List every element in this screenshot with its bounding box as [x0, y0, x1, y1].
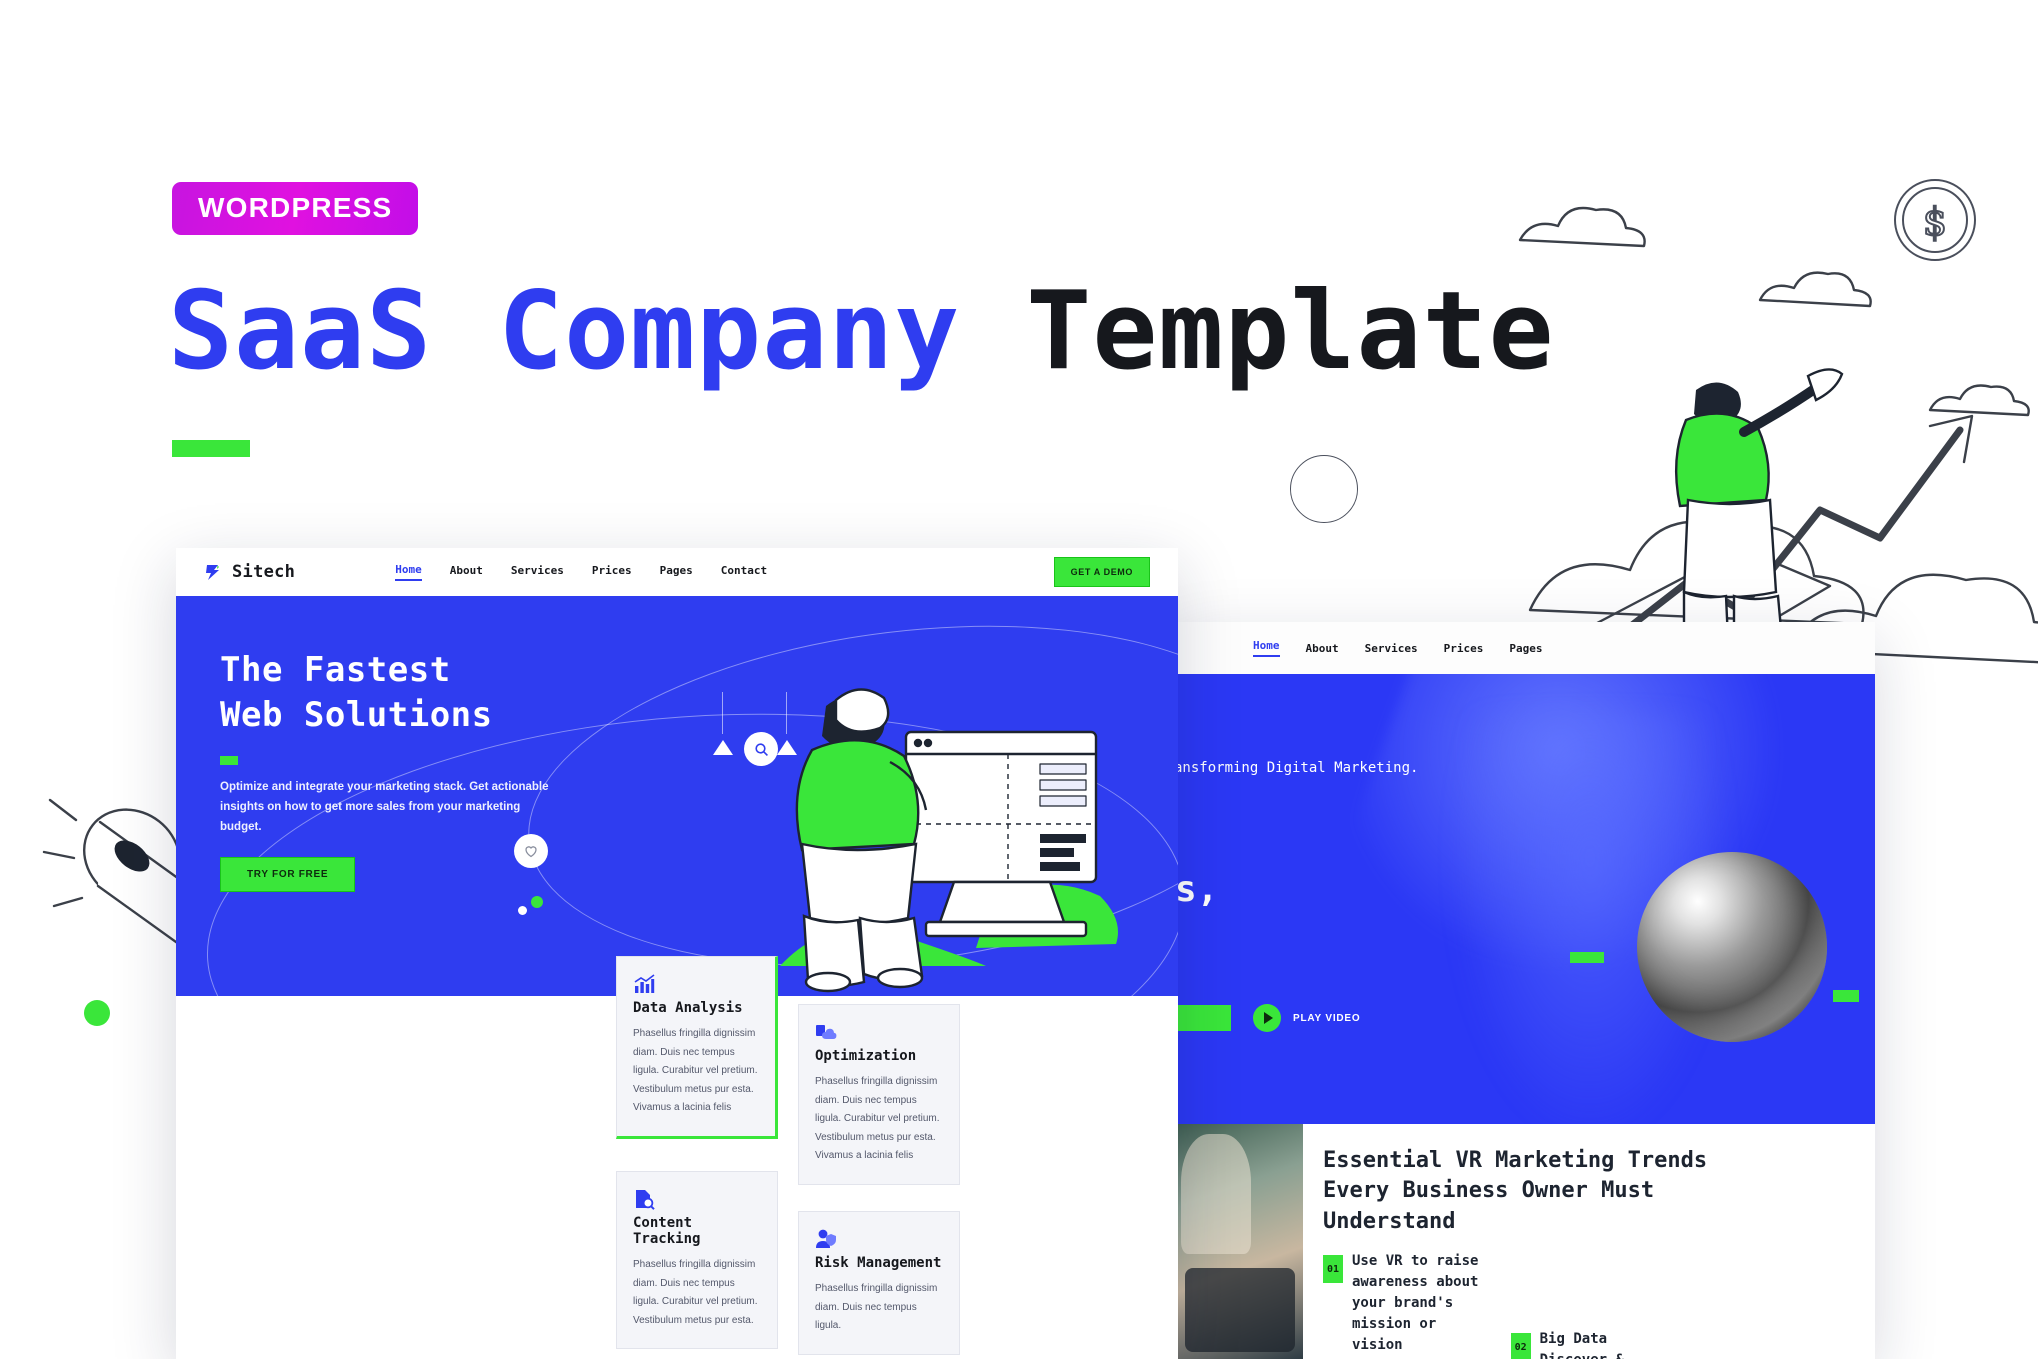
nav-item-about[interactable]: About	[450, 564, 483, 580]
decorative-circle-outline	[1290, 455, 1358, 523]
hanger-line-a	[722, 692, 723, 734]
hero-copy: The Fastest Web Solutions Optimize and i…	[220, 648, 650, 892]
card-title: Content Tracking	[633, 1215, 761, 1247]
green-accent-bar	[172, 440, 250, 457]
brand-name: Sitech	[232, 562, 295, 582]
green-dot-decor	[84, 1000, 110, 1026]
article-title: Essential VR Marketing Trends Every Busi…	[1323, 1146, 1857, 1237]
headline-blue-part: SaaS Company	[168, 269, 960, 394]
nav-item-contact[interactable]: Contact	[721, 564, 767, 580]
m2-green-chip	[1833, 990, 1859, 1002]
white-dot-a	[518, 906, 527, 915]
article-photo	[1175, 1124, 1303, 1359]
play-video-label: PLAY VIDEO	[1293, 1013, 1360, 1024]
list-item: 02 Big Data Discover & Optimization	[1511, 1329, 1641, 1359]
m2-nav-item-pages[interactable]: Pages	[1509, 642, 1542, 655]
get-a-demo-button[interactable]: GET A DEMO	[1054, 557, 1150, 587]
m2-nav-item-about[interactable]: About	[1306, 642, 1339, 655]
mockup-secondary-browser: Home About Services Prices Pages y is tr…	[1175, 622, 1875, 1359]
nav-item-pages[interactable]: Pages	[660, 564, 693, 580]
triangle-icon-a	[713, 740, 733, 755]
item-heading: Use VR to raise awareness about your bra…	[1352, 1253, 1478, 1353]
page-title: SaaS Company Template	[168, 275, 1554, 388]
feature-card-risk-management[interactable]: Risk Management Phasellus fringilla dign…	[798, 1211, 960, 1355]
nav-item-home[interactable]: Home	[395, 563, 422, 581]
nav-item-prices[interactable]: Prices	[592, 564, 632, 580]
list-item: 01 Use VR to raise awareness about your …	[1323, 1251, 1483, 1359]
green-dot-a	[531, 896, 543, 908]
user-shield-icon	[815, 1237, 837, 1254]
m2-cta-row: PLAY VIDEO	[1175, 1004, 1360, 1032]
chrome-sphere-graphic	[1637, 852, 1827, 1042]
hero-green-bar	[220, 756, 238, 765]
card-body: Phasellus fringilla dignissim diam. Duis…	[633, 1256, 761, 1330]
play-video-button[interactable]: PLAY VIDEO	[1253, 1004, 1360, 1032]
feature-card-data-analysis[interactable]: Data Analysis Phasellus fringilla dignis…	[616, 956, 778, 1139]
card-title: Data Analysis	[633, 1000, 759, 1016]
m2-green-dash	[1570, 952, 1604, 963]
feature-card-optimization[interactable]: Optimization Phasellus fringilla digniss…	[798, 1004, 960, 1185]
sitech-logo-icon	[202, 562, 223, 583]
bar-chart-icon	[633, 982, 655, 999]
mockup2-hero: y is transforming Digital Marketing. ect…	[1175, 674, 1875, 1124]
item-number-badge: 02	[1511, 1333, 1531, 1359]
mockup2-nav: Home About Services Prices Pages	[1175, 622, 1875, 674]
card-body: Phasellus fringilla dignissim diam. Duis…	[815, 1280, 943, 1336]
mockup1-hero: The Fastest Web Solutions Optimize and i…	[176, 596, 1178, 996]
person-monitor-illustration	[740, 666, 1160, 996]
card-body: Phasellus fringilla dignissim diam. Duis…	[815, 1073, 943, 1166]
try-for-free-button[interactable]: TRY FOR FREE	[220, 857, 355, 892]
play-icon	[1253, 1004, 1281, 1032]
card-title: Risk Management	[815, 1255, 943, 1271]
wordpress-badge: WORDPRESS	[172, 182, 418, 235]
m2-nav-item-services[interactable]: Services	[1365, 642, 1418, 655]
m2-primary-button[interactable]	[1175, 1005, 1231, 1031]
nav-item-services[interactable]: Services	[511, 564, 564, 580]
m2-hero-kicker: y is transforming Digital Marketing.	[1175, 760, 1755, 776]
brand-logo[interactable]: Sitech	[202, 562, 295, 583]
item-heading: Big Data Discover & Optimization	[1540, 1329, 1641, 1359]
headline-dark-part: Template	[1026, 269, 1554, 394]
document-search-icon	[633, 1197, 655, 1214]
item-number-badge: 01	[1323, 1255, 1343, 1283]
mockup2-article-section: Essential VR Marketing Trends Every Busi…	[1175, 1124, 1875, 1359]
card-body: Phasellus fringilla dignissim diam. Duis…	[633, 1025, 759, 1118]
hero-title: The Fastest Web Solutions	[220, 648, 650, 738]
dollar-coin-icon: $	[1880, 165, 1990, 275]
cloud-data-icon	[815, 1030, 837, 1047]
m2-nav-item-prices[interactable]: Prices	[1444, 642, 1484, 655]
feature-card-content-tracking[interactable]: Content Tracking Phasellus fringilla dig…	[616, 1171, 778, 1349]
svg-text:$: $	[1923, 200, 1947, 244]
m2-nav-item-home[interactable]: Home	[1253, 639, 1280, 657]
mockup1-nav: Sitech Home About Services Prices Pages …	[176, 548, 1178, 596]
heart-icon-bubble[interactable]	[514, 834, 548, 868]
mockup1-nav-links: Home About Services Prices Pages Contact	[395, 563, 767, 581]
hero-subtitle: Optimize and integrate your marketing st…	[220, 777, 560, 837]
article-item-list: 01 Use VR to raise awareness about your …	[1323, 1251, 1857, 1359]
card-title: Optimization	[815, 1048, 943, 1064]
poster-canvas: WORDPRESS SaaS Company Template $	[0, 0, 2038, 1359]
mockup-primary-browser: Sitech Home About Services Prices Pages …	[176, 548, 1178, 1359]
